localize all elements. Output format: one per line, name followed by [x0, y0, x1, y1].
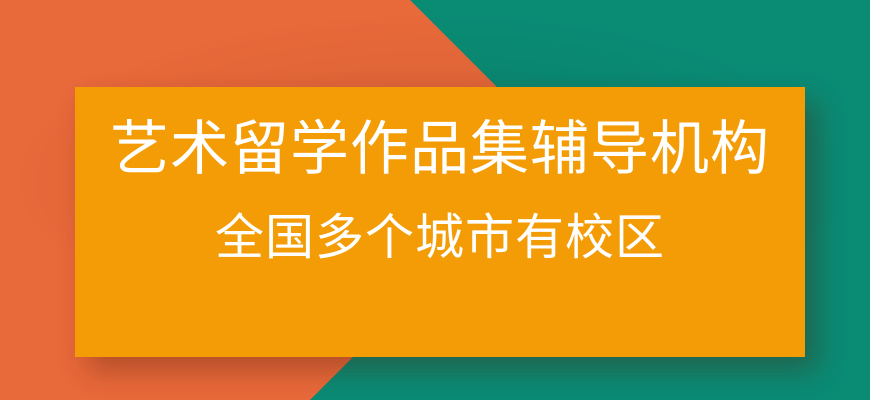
banner-title: 艺术留学作品集辅导机构	[110, 113, 770, 185]
banner-subtitle: 全国多个城市有校区	[215, 207, 665, 269]
promo-banner: 艺术留学作品集辅导机构 全国多个城市有校区	[0, 0, 870, 400]
headline-card: 艺术留学作品集辅导机构 全国多个城市有校区	[75, 87, 805, 357]
